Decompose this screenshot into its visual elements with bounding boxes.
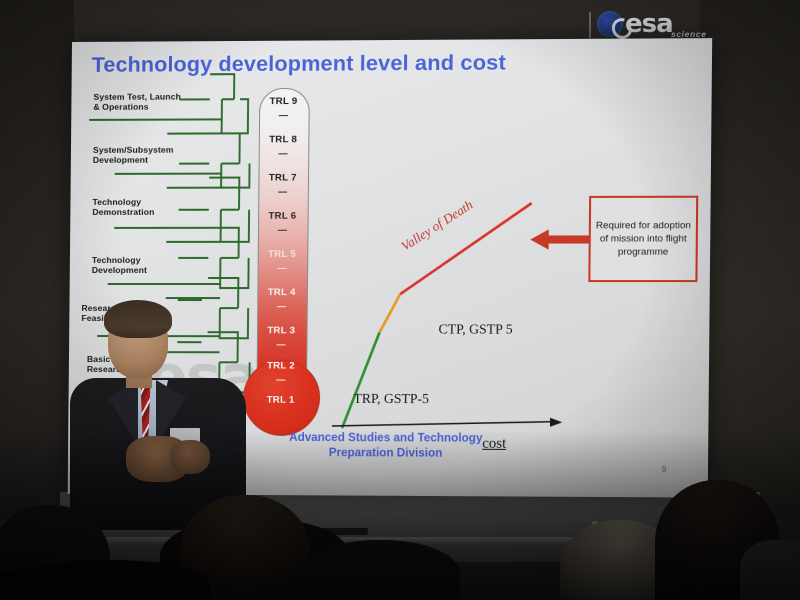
trl-level-8: TRL 8 [259,134,308,145]
cost-axis-line [332,421,550,427]
trl-level-1: TRL 1 [256,395,305,406]
trl-tick-3: — [257,339,306,349]
wall-left-panel [0,0,74,520]
ctp-gstp5-label: CTP, GSTP 5 [438,321,512,337]
trl-tick-7: — [258,186,307,196]
audience-shoulder-left [0,560,210,600]
speaker-person [74,300,244,530]
trl-level-2: TRL 2 [257,360,306,371]
esa-logo-bar [589,12,591,38]
wall-right-panel [700,0,800,520]
audience-head-4 [300,540,460,600]
speaker-hand-right [170,440,210,474]
trl-tick-8: — [259,148,308,158]
trl-tick-6: — [258,225,307,235]
series-transition [380,294,401,332]
callout-box: Required for adoption of mission into fl… [588,196,698,282]
photo-scene: esa science esa Technology development l… [0,0,800,600]
speaker-hair [104,300,172,338]
trl-tick-9: — [259,110,308,120]
trl-level-4: TRL 4 [257,287,306,298]
esa-globe-icon [597,11,623,37]
cost-axis-arrowhead [550,418,562,427]
trl-tick-2: — [257,374,306,384]
slide-page-number: 9 [662,464,667,474]
trl-tick-4: — [257,301,306,311]
trl-level-7: TRL 7 [258,172,307,183]
callout-arrow-icon [530,227,590,251]
audience-head-7 [740,540,800,600]
trl-level-6: TRL 6 [258,211,307,222]
trp-gstp5-label: TRP, GSTP-5 [353,391,429,407]
trl-level-9: TRL 9 [259,96,308,107]
callout-text: Required for adoption of mission into fl… [595,219,692,259]
esa-wordmark: esa [625,9,673,39]
trl-tick-5: — [258,263,307,273]
trl-level-5: TRL 5 [258,249,307,260]
trl-level-3: TRL 3 [257,325,306,336]
series-trp-gstp5 [342,332,379,428]
